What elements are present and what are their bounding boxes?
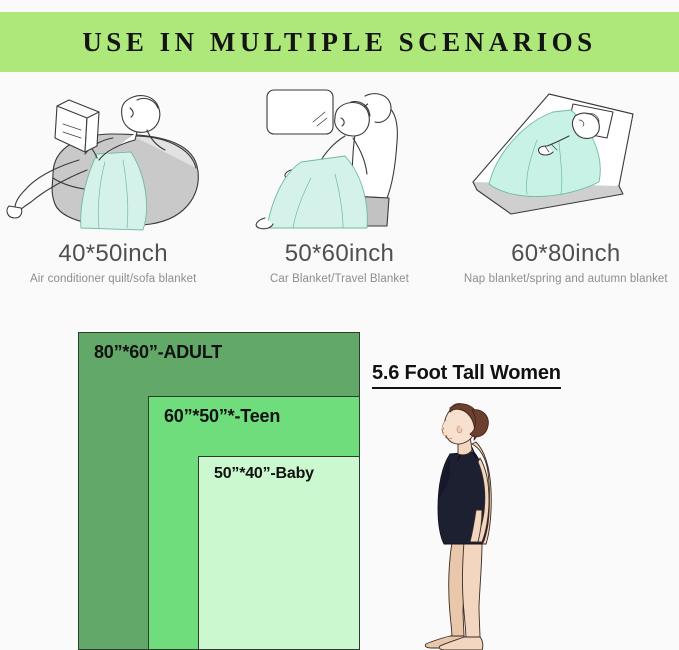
woman-reference-panel: 5.6 Foot Tall Women: [372, 362, 622, 389]
infographic-page: USE IN MULTIPLE SCENARIOS: [0, 0, 679, 650]
size-comparison-chart: 80”*60”-ADULT 60”*50”*-Teen 50”*40”-Baby: [78, 332, 360, 650]
scenario-item-bed: 60*80inch Nap blanket/spring and autumn …: [453, 78, 679, 298]
scenario-row: 40*50inch Air conditioner quilt/sofa bla…: [0, 78, 679, 298]
woman-heading: 5.6 Foot Tall Women: [372, 362, 561, 389]
scenario-item-carseat: 50*60inch Car Blanket/Travel Blanket: [226, 78, 452, 298]
scenario-size-label: 40*50inch: [58, 240, 167, 268]
scenario-size-label: 60*80inch: [511, 240, 620, 268]
size-label-baby: 50”*40”-Baby: [214, 465, 314, 483]
standing-woman-profile-icon: [394, 392, 522, 650]
scenario-caption-label: Air conditioner quilt/sofa blanket: [30, 273, 196, 285]
page-title: USE IN MULTIPLE SCENARIOS: [82, 27, 596, 58]
header-banner: USE IN MULTIPLE SCENARIOS: [0, 12, 679, 72]
person-reading-on-beanbag-icon: [1, 78, 226, 238]
size-rect-baby: [198, 456, 360, 650]
person-in-car-seat-with-blanket-icon: [227, 78, 452, 238]
scenario-size-label: 50*60inch: [285, 240, 394, 268]
size-label-teen: 60”*50”*-Teen: [164, 406, 280, 427]
person-sleeping-in-bed-icon: [453, 78, 678, 238]
size-label-adult: 80”*60”-ADULT: [94, 342, 222, 363]
scenario-caption-label: Nap blanket/spring and autumn blanket: [464, 273, 668, 285]
scenario-caption-label: Car Blanket/Travel Blanket: [270, 273, 409, 285]
scenario-item-beanbag: 40*50inch Air conditioner quilt/sofa bla…: [0, 78, 226, 298]
